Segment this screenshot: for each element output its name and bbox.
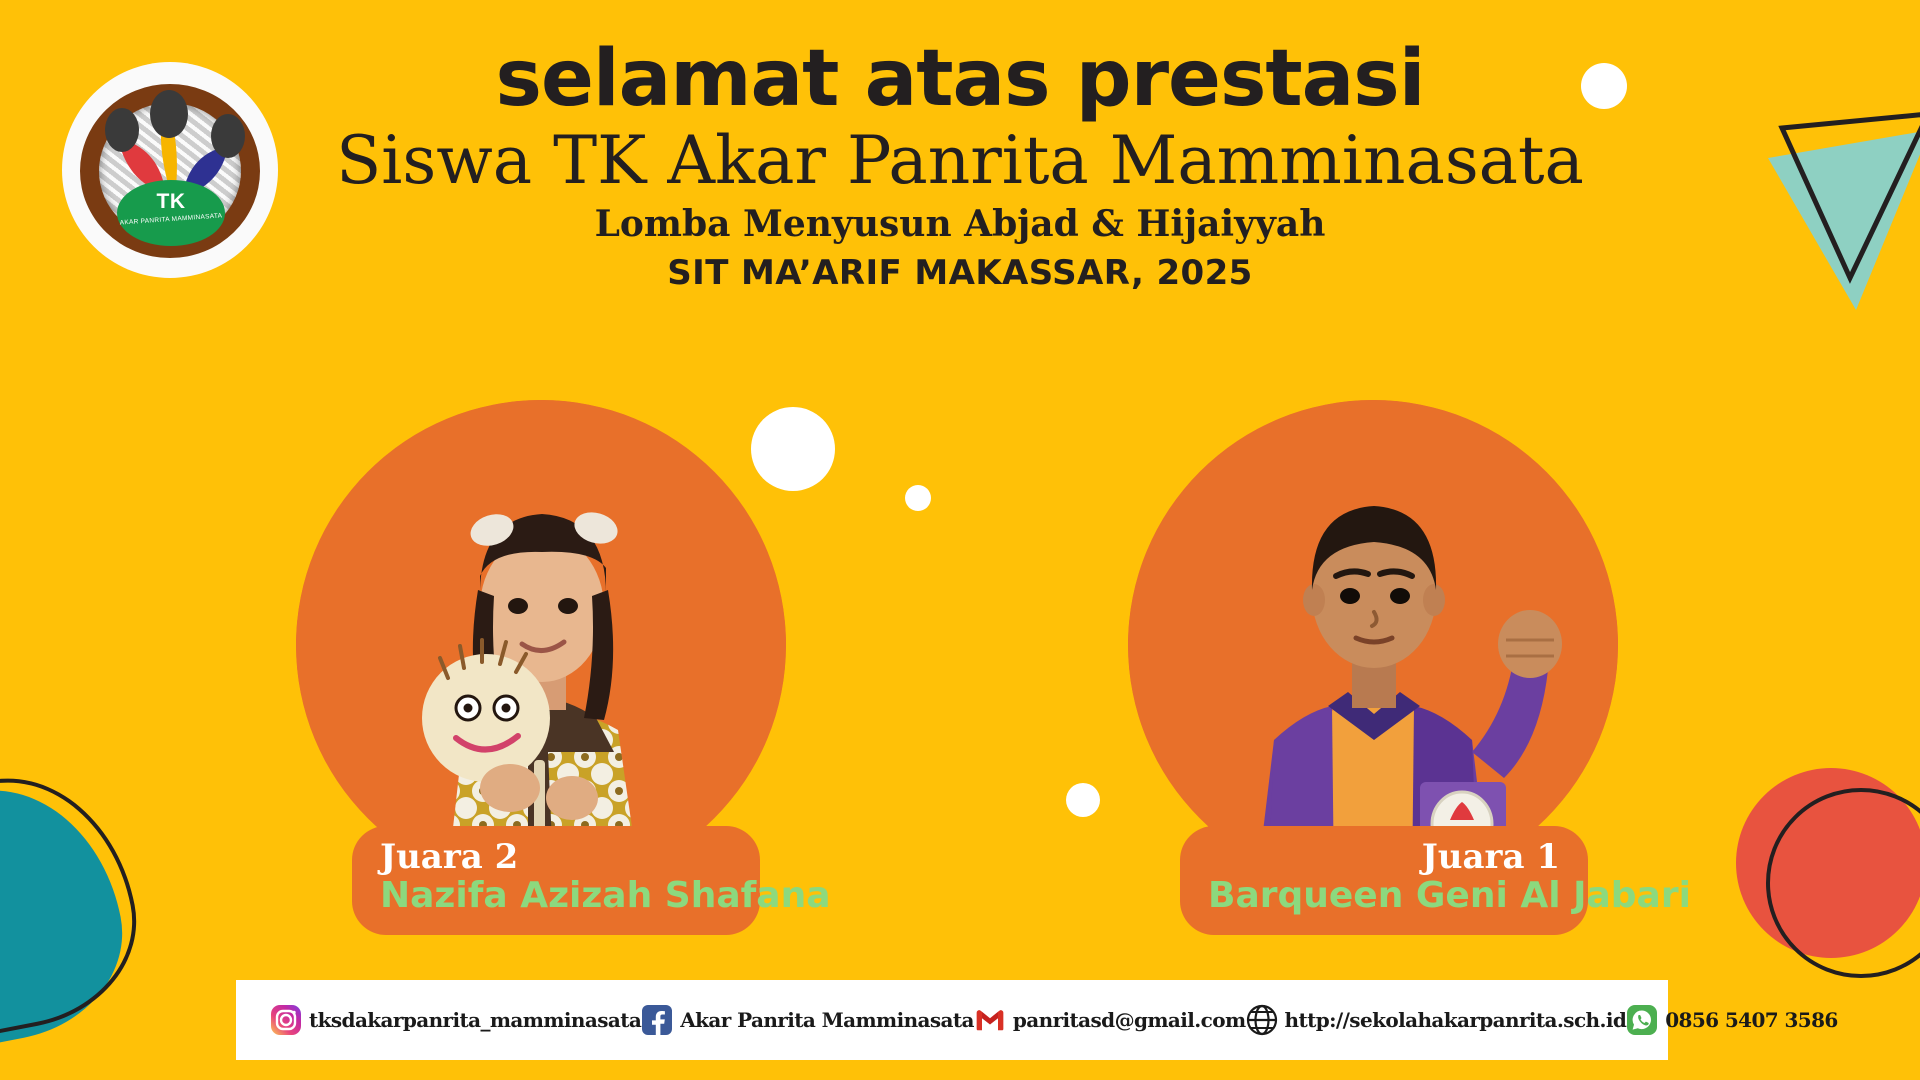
contact-instagram[interactable]: tksdakarpanrita_mamminasata [270,1004,641,1036]
contact-instagram-text: tksdakarpanrita_mamminasata [309,1008,641,1032]
gmail-icon [974,1004,1006,1036]
event-venue-year: SIT MA’ARIF MAKASSAR, 2025 [0,253,1920,293]
facebook-icon [641,1004,673,1036]
globe-icon [1246,1004,1278,1036]
banner-canvas: TK AKAR PANRITA MAMMINASATA selamat atas… [0,0,1920,1080]
white-dot-lower-center [1066,783,1100,817]
outline-circle-bottom-right [1766,788,1920,978]
contact-website[interactable]: http://sekolahakarpanrita.sch.id [1246,1004,1627,1036]
headline-primary: selamat atas prestasi [0,40,1920,120]
whatsapp-icon [1626,1004,1658,1036]
contact-whatsapp-text: 0856 5407 3586 [1665,1008,1838,1032]
footer-contact-bar: tksdakarpanrita_mamminasata Akar Panrita… [236,980,1668,1060]
winner-photo-juara-1: TK [1128,400,1618,890]
heading-block: selamat atas prestasi Siswa TK Akar Panr… [0,0,1920,293]
teal-leaf-bottom-left [0,770,140,1060]
winner-name-juara-2: Nazifa Azizah Shafana [380,876,732,916]
headline-secondary: Siswa TK Akar Panrita Mamminasata [0,126,1920,195]
contact-facebook-text: Akar Panrita Mamminasata [680,1008,974,1032]
coral-circle-bottom-right [1736,768,1920,958]
girl-holding-smiley-craft [296,400,786,890]
contact-facebook[interactable]: Akar Panrita Mamminasata [641,1004,974,1036]
contact-website-text: http://sekolahakarpanrita.sch.id [1285,1008,1627,1032]
boy-in-purple-uniform: TK [1128,400,1618,890]
outline-leaf-bottom-left [0,758,154,1048]
instagram-icon [270,1004,302,1036]
contact-email-text: panritasd@gmail.com [1013,1008,1246,1032]
winner-rank-juara-1: Juara 1 [1208,840,1560,876]
white-dot-small-center [905,485,931,511]
winner-rank-juara-2: Juara 2 [380,840,732,876]
winner-caption-juara-1: Juara 1 Barqueen Geni Al Jabari [1180,826,1588,935]
winner-caption-juara-2: Juara 2 Nazifa Azizah Shafana [352,826,760,935]
contact-email[interactable]: panritasd@gmail.com [974,1004,1246,1036]
contact-whatsapp[interactable]: 0856 5407 3586 [1626,1004,1838,1036]
event-name: Lomba Menyusun Abjad & Hijaiyyah [0,203,1920,245]
winner-photo-juara-2 [296,400,786,890]
winner-name-juara-1: Barqueen Geni Al Jabari [1208,876,1560,916]
white-dot-large-center [751,407,835,491]
